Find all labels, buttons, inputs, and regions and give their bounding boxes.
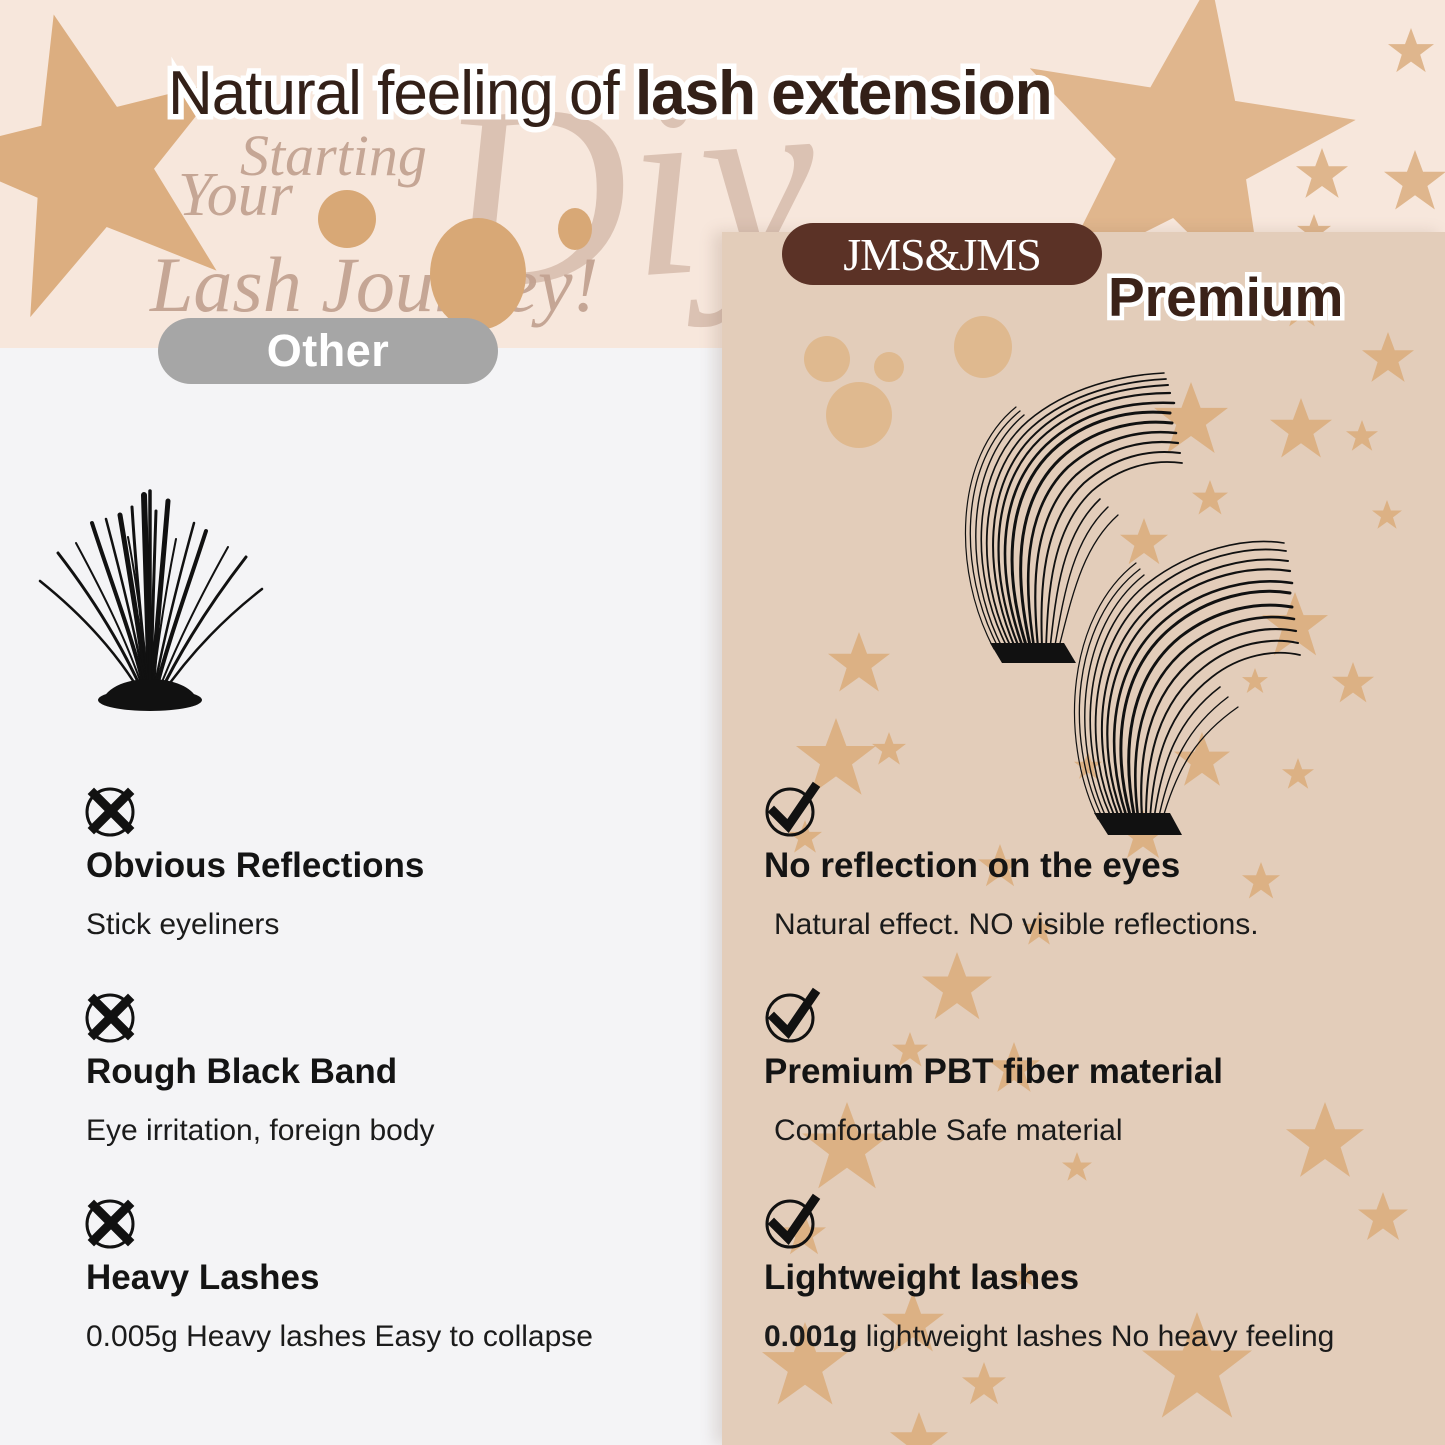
brand-badge-label: JMS&JMS	[843, 228, 1041, 281]
feature-item: Obvious Reflections Stick eyeliners	[82, 780, 682, 942]
premium-feature-list: No reflection on the eyes Natural effect…	[762, 780, 1432, 1398]
feature-subtitle: Natural effect. NO visible reflections.	[774, 908, 1432, 942]
check-mark-icon	[762, 986, 822, 1046]
decorative-star	[1362, 332, 1414, 384]
other-badge: Other	[158, 318, 498, 384]
decorative-dot	[318, 190, 376, 248]
page-title-regular: Natural feeling of	[168, 59, 635, 128]
decorative-dot	[430, 218, 526, 330]
premium-product-panel: No reflection on the eyes Natural effect…	[722, 232, 1445, 1445]
x-mark-icon	[82, 986, 142, 1046]
feature-subtitle: Comfortable Safe material	[774, 1114, 1432, 1148]
feature-title: Heavy Lashes	[86, 1258, 682, 1298]
feature-item: Rough Black Band Eye irritation, foreign…	[82, 986, 682, 1148]
feature-item: Heavy Lashes 0.005g Heavy lashes Easy to…	[82, 1192, 682, 1354]
decorative-star-small	[1296, 148, 1348, 200]
decorative-star-small	[1388, 28, 1434, 74]
x-mark-icon	[82, 780, 142, 840]
product-comparison-infographic: Diy Starting Your Lash Journey!	[0, 0, 1445, 1445]
feature-item: Lightweight lashes 0.001g lightweight la…	[762, 1192, 1432, 1354]
decorative-dot	[558, 208, 592, 250]
messy-lash-cluster-image	[0, 445, 300, 715]
feature-subtitle: Stick eyeliners	[86, 908, 682, 942]
feature-item: Premium PBT fiber material Comfortable S…	[762, 986, 1432, 1148]
page-title: Natural feeling of lash extension	[168, 58, 1052, 129]
x-mark-icon	[82, 1192, 142, 1252]
feature-title: No reflection on the eyes	[764, 846, 1432, 886]
feature-subtitle: 0.001g lightweight lashes No heavy feeli…	[764, 1320, 1432, 1354]
decorative-star	[890, 1412, 948, 1445]
decorative-star-small	[1384, 150, 1445, 212]
feature-subtitle: Eye irritation, foreign body	[86, 1114, 682, 1148]
other-feature-list: Obvious Reflections Stick eyeliners Roug…	[82, 780, 682, 1398]
script-line-your: Your	[178, 160, 293, 231]
check-mark-icon	[762, 1192, 822, 1252]
premium-tier-label: Premium	[1108, 265, 1343, 329]
page-title-bold: lash extension	[635, 59, 1052, 128]
feature-subtitle-rest: lightweight lashes No heavy feeling	[857, 1320, 1334, 1353]
feature-item: No reflection on the eyes Natural effect…	[762, 780, 1432, 942]
decorative-star	[1372, 500, 1402, 530]
premium-lash-clusters-image	[830, 345, 1350, 835]
other-badge-label: Other	[267, 325, 390, 377]
feature-title: Premium PBT fiber material	[764, 1052, 1432, 1092]
script-line-lash-journey: Lash Journey!	[150, 240, 598, 330]
brand-badge: JMS&JMS	[782, 223, 1102, 285]
feature-title: Lightweight lashes	[764, 1258, 1432, 1298]
feature-subtitle: 0.005g Heavy lashes Easy to collapse	[86, 1320, 682, 1354]
other-product-panel: Obvious Reflections Stick eyeliners Roug…	[0, 348, 722, 1445]
check-mark-icon	[762, 780, 822, 840]
feature-title: Obvious Reflections	[86, 846, 682, 886]
feature-title: Rough Black Band	[86, 1052, 682, 1092]
feature-subtitle-weight-value: 0.001g	[764, 1320, 857, 1353]
decorative-star	[1346, 420, 1378, 452]
